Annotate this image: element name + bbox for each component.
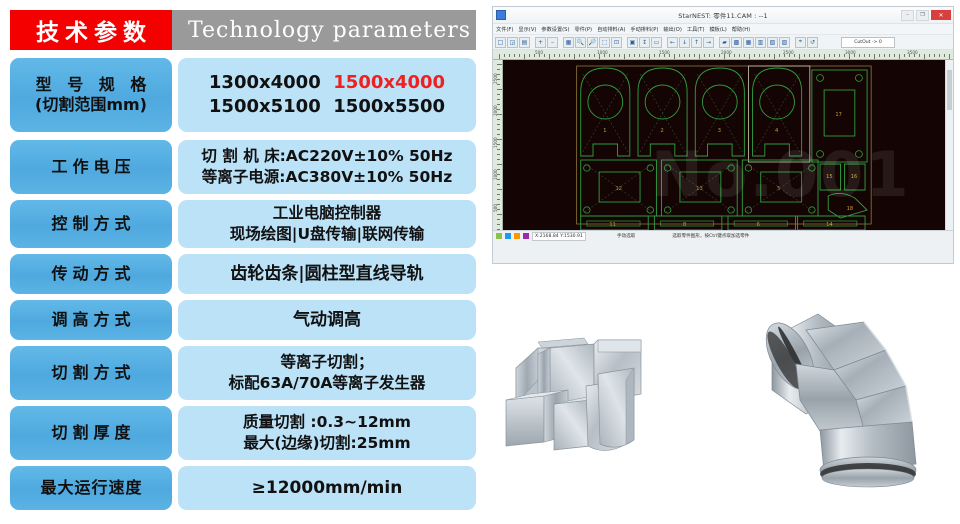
nested-part	[581, 68, 630, 156]
rectangular-duct-fittings-photo	[498, 318, 738, 498]
part-number-label: 14	[826, 222, 833, 228]
canvas-watermark: No.001	[651, 138, 910, 211]
arrow-up-icon[interactable]: ↑	[691, 37, 702, 48]
cad-menu-item-2[interactable]: 参数设置(S)	[541, 26, 569, 33]
status-icon-4	[523, 233, 529, 239]
cad-menu-item-0[interactable]: 文件(F)	[496, 26, 513, 33]
row-value: 1300x4000 1500x4000 1500x5100 1500x5500	[178, 58, 476, 132]
ruler-label: 3500	[907, 50, 918, 55]
part-detail	[661, 221, 714, 226]
ruler-label: 500	[493, 204, 498, 212]
ruler-label: 1500	[659, 50, 670, 55]
grid-icon[interactable]: ▦	[563, 37, 574, 48]
part-corner-hole	[584, 165, 591, 171]
part-hole	[702, 85, 737, 119]
row-label-line1: 切割厚度	[46, 423, 135, 443]
ruler-tick	[709, 54, 710, 57]
ruler-tick	[884, 54, 885, 57]
ruler-tick	[554, 54, 555, 57]
spec-table: 技术参数 Technology parameters 型 号 规 格 (切割范围…	[0, 0, 486, 524]
ruler-tick	[497, 99, 500, 100]
part-corner-hole	[817, 75, 824, 82]
ruler-tick	[614, 54, 615, 57]
cad-menu-item-1[interactable]: 显示(V)	[518, 26, 536, 33]
ruler-tick	[559, 54, 560, 57]
ruler-tick	[504, 54, 505, 57]
ruler-tick	[839, 54, 840, 57]
round-duct-elbow-photo	[760, 304, 950, 504]
ruler-tick	[744, 54, 745, 57]
row-value: ≥12000mm/min	[178, 466, 476, 510]
sort-icon[interactable]: ▧	[767, 37, 778, 48]
ruler-tick	[497, 194, 500, 195]
ruler-tick	[497, 199, 500, 200]
status-icon-2	[505, 233, 511, 239]
row-value-line1: 工业电脑控制器	[273, 203, 382, 224]
ruler-label: 2000	[721, 50, 732, 55]
ruler-tick	[859, 54, 860, 57]
ruler-tick	[879, 54, 880, 57]
zoom-all-icon[interactable]: ⊡	[611, 37, 622, 48]
ruler-tick	[939, 54, 940, 57]
table-row: 控制方式 工业电脑控制器 现场绘图|U盘传输|联网传输	[10, 200, 476, 248]
scrollbar-thumb[interactable]	[947, 70, 952, 110]
status-coordinates: X:2168.84 Y:1530.91	[535, 234, 583, 239]
part-hole	[645, 85, 680, 119]
cad-software-screenshot: StarNEST: 零件11.CAM : --1 – ❐ ✕ 文件(F)显示(V…	[492, 6, 954, 264]
model-1500x4000-highlight: 1500x4000	[333, 72, 445, 93]
save-icon[interactable]: ▤	[519, 37, 530, 48]
ruler-tick	[634, 54, 635, 57]
row-label-line1: 型 号 规 格	[31, 75, 152, 95]
row-value: 气动调高	[178, 300, 476, 340]
status-icon-1	[496, 233, 502, 239]
row-value: 质量切割 :0.3~12mm 最大(边缘)切割:25mm	[178, 406, 476, 460]
row-label: 型 号 规 格 (切割范围mm)	[10, 58, 172, 132]
ruler-tick	[619, 54, 620, 57]
row-label: 切割方式	[10, 346, 172, 400]
table-row: 最大运行速度 ≥12000mm/min	[10, 466, 476, 510]
row-label: 控制方式	[10, 200, 172, 248]
part-corner-hole	[584, 207, 591, 213]
ruler-tick	[519, 54, 520, 57]
ruler-tick	[809, 54, 810, 57]
ruler-tick	[497, 124, 500, 125]
row-value: 工业电脑控制器 现场绘图|U盘传输|联网传输	[178, 200, 476, 248]
ruler-tick	[769, 54, 770, 57]
zoom-window-icon[interactable]: ⬚	[599, 37, 610, 48]
ruler-tick	[694, 54, 695, 57]
page-title-en: Technology parameters	[172, 10, 476, 50]
ruler-tick	[759, 54, 760, 57]
array-icon[interactable]: ▦	[743, 37, 754, 48]
ruler-tick	[497, 184, 500, 185]
ruler-tick	[579, 54, 580, 57]
model-1500x5500: 1500x5500	[333, 96, 445, 117]
spec-table-header: 技术参数 Technology parameters	[10, 10, 476, 50]
ruler-tick	[929, 54, 930, 57]
ruler-tick	[714, 54, 715, 57]
ruler-tick	[564, 54, 565, 57]
ruler-tick	[497, 219, 500, 220]
part-number-label: 6	[757, 222, 760, 228]
cad-title-bar: StarNEST: 零件11.CAM : --1 – ❐ ✕	[493, 7, 953, 24]
model-1500x5100: 1500x5100	[209, 96, 321, 117]
ruler-tick	[497, 94, 500, 95]
row-label: 传动方式	[10, 254, 172, 294]
row-value-line2: 1500x5100 1500x5500	[209, 95, 445, 119]
ruler-tick	[497, 134, 500, 135]
ruler-tick	[889, 54, 890, 57]
arrow-down-icon[interactable]: ↓	[679, 37, 690, 48]
ruler-tick	[497, 159, 500, 160]
cad-canvas[interactable]: No.001 12341712135151618118614	[503, 60, 953, 230]
add-icon[interactable]: +	[535, 37, 546, 48]
ruler-tick	[739, 54, 740, 57]
align-icon[interactable]: ▰	[719, 37, 730, 48]
ruler-tick	[684, 54, 685, 57]
ruler-tick	[754, 54, 755, 57]
part-hole	[760, 85, 795, 119]
ruler-tick	[869, 54, 870, 57]
arrow-left-icon[interactable]: ←	[667, 37, 678, 48]
cad-menu-bar[interactable]: 文件(F)显示(V)参数设置(S)零件(P)自动排料(A)手动排料(P)输出(O…	[493, 24, 953, 35]
ruler-tick	[584, 54, 585, 57]
toolbar-cutout-field[interactable]: CutOut -> 0	[841, 37, 895, 48]
cad-menu-item-7[interactable]: 工具(T)	[687, 26, 705, 33]
row-label-line1: 调高方式	[46, 310, 135, 330]
row-label-line1: 切割方式	[46, 363, 135, 383]
ruler-label: 1500	[493, 137, 498, 148]
cad-menu-item-9[interactable]: 帮助(H)	[732, 26, 750, 33]
row-value-line1: 齿轮齿条|圆柱型直线导轨	[230, 263, 423, 286]
ruler-tick	[529, 54, 530, 57]
part-number-label: 3	[718, 128, 721, 134]
part-icon[interactable]: ▥	[755, 37, 766, 48]
ruler-label: 500	[535, 50, 543, 55]
table-row: 传动方式 齿轮齿条|圆柱型直线导轨	[10, 254, 476, 294]
cad-status-bar: X:2168.84 Y:1530.91 手动选取 选取零件图形，按Ctrl键点取…	[493, 230, 953, 241]
ruler-tick	[864, 54, 865, 57]
row-label-line1: 控制方式	[46, 214, 135, 234]
row-label-line1: 工作电压	[46, 157, 135, 177]
ruler-tick	[794, 54, 795, 57]
ruler-tick	[829, 54, 830, 57]
ruler-tick	[509, 54, 510, 57]
ruler-tick	[497, 69, 500, 70]
model-1300x4000: 1300x4000	[209, 72, 321, 93]
table-row: 切割厚度 质量切割 :0.3~12mm 最大(边缘)切割:25mm	[10, 406, 476, 460]
row-label: 调高方式	[10, 300, 172, 340]
ruler-tick	[589, 54, 590, 57]
table-row: 调高方式 气动调高	[10, 300, 476, 340]
nested-part	[728, 216, 796, 230]
zoom-in-icon[interactable]: 🔍	[575, 37, 586, 48]
nest-guide	[585, 164, 653, 212]
ruler-tick	[719, 54, 720, 57]
ruler-tick	[804, 54, 805, 57]
ruler-tick	[497, 224, 500, 225]
row-value: 齿轮齿条|圆柱型直线导轨	[178, 254, 476, 294]
measure-icon[interactable]: ↕	[639, 37, 650, 48]
row-value-line1: 等离子切割；	[280, 352, 373, 373]
open-icon[interactable]: ◲	[507, 37, 518, 48]
ruler-label: 2500	[783, 50, 794, 55]
ruler-tick	[629, 54, 630, 57]
ruler-tick	[689, 54, 690, 57]
part-hole	[588, 85, 623, 119]
ruler-tick	[834, 54, 835, 57]
ruler-tick	[514, 54, 515, 57]
row-value: 切 割 机 床:AC220V±10% 50Hz 等离子电源:AC380V±10%…	[178, 140, 476, 194]
table-row: 切割方式 等离子切割； 标配63A/70A等离子发生器	[10, 346, 476, 400]
part-number-label: 12	[616, 186, 623, 192]
ruler-tick	[654, 54, 655, 57]
ruler-label: 1000	[493, 169, 498, 180]
cad-menu-item-6[interactable]: 输出(O)	[663, 26, 682, 33]
row-label-line1: 最大运行速度	[39, 478, 142, 498]
row-value-line1: 质量切割 :0.3~12mm	[243, 412, 411, 433]
table-row: 型 号 规 格 (切割范围mm) 1300x4000 1500x4000 150…	[10, 58, 476, 132]
ruler-tick	[497, 119, 500, 120]
ruler-tick	[894, 54, 895, 57]
row-value-line2: 等离子电源:AC380V±10% 50Hz	[202, 167, 452, 188]
part-number-label: 4	[775, 128, 778, 134]
part-number-label: 8	[683, 222, 686, 228]
ruler-tick	[609, 54, 610, 57]
ruler-tick	[497, 154, 500, 155]
part-number-label: 1	[603, 128, 606, 134]
select-icon[interactable]: ▣	[627, 37, 638, 48]
zoom-out-icon[interactable]: 🔎	[587, 37, 598, 48]
ruler-tick	[734, 54, 735, 57]
ruler-tick	[594, 54, 595, 57]
ruler-tick	[919, 54, 920, 57]
row-value: 等离子切割； 标配63A/70A等离子发生器	[178, 346, 476, 400]
row-value-line1: 切 割 机 床:AC220V±10% 50Hz	[201, 146, 452, 167]
row-value-line1: 1300x4000 1500x4000	[209, 71, 445, 95]
part-corner-hole	[855, 75, 862, 82]
cad-workspace: 2500200015001000500 No.001 1234171213515…	[493, 60, 953, 230]
row-value-line2: 最大(边缘)切割:25mm	[243, 433, 410, 454]
row-value-line2: 现场绘图|U盘传输|联网传输	[230, 224, 424, 245]
status-hint: 选取零件图形，按Ctrl键点取加选零件	[672, 233, 749, 239]
horizontal-ruler: 500100015002000250030003500	[493, 50, 953, 60]
ruler-tick	[814, 54, 815, 57]
table-row: 工作电压 切 割 机 床:AC220V±10% 50Hz 等离子电源:AC380…	[10, 140, 476, 194]
cad-toolbar[interactable]: □◲▤+–▦🔍🔎⬚⊡▣↕▭←↓↑→▰▩▦▥▧▨⌖↺CutOut -> 0	[493, 35, 953, 50]
ruler-label: 3000	[845, 50, 856, 55]
ruler-tick	[679, 54, 680, 57]
ruler-tick	[569, 54, 570, 57]
ruler-tick	[639, 54, 640, 57]
ruler-tick	[779, 54, 780, 57]
ruler-tick	[944, 54, 945, 57]
row-value-line1: 气动调高	[293, 309, 361, 332]
product-photos	[492, 290, 954, 522]
part-number-label: 2	[661, 128, 664, 134]
ruler-tick	[644, 54, 645, 57]
new-icon[interactable]: □	[495, 37, 506, 48]
part-detail	[734, 221, 787, 226]
ruler-tick	[764, 54, 765, 57]
ruler-tick	[934, 54, 935, 57]
part-number-label: 17	[835, 112, 842, 118]
ruler-label: 2500	[493, 73, 498, 84]
canvas-scrollbar-vertical[interactable]	[945, 60, 953, 230]
row-label: 最大运行速度	[10, 466, 172, 510]
cad-window-title: StarNEST: 零件11.CAM : --1	[493, 10, 953, 20]
part-number-label: 11	[609, 222, 616, 228]
row-label: 工作电压	[10, 140, 172, 194]
row-label-line2: (切割范围mm)	[35, 95, 147, 115]
cad-menu-item-5[interactable]: 手动排料(P)	[630, 26, 658, 33]
ruler-tick	[704, 54, 705, 57]
ruler-tick	[497, 229, 500, 230]
ruler-tick	[819, 54, 820, 57]
pan-icon[interactable]: ⌖	[795, 37, 806, 48]
ruler-tick	[497, 129, 500, 130]
arrow-right-icon[interactable]: →	[703, 37, 714, 48]
ruler-label: 1000	[597, 50, 608, 55]
row-label: 切割厚度	[10, 406, 172, 460]
ruler-tick	[904, 54, 905, 57]
page-title-cn: 技术参数	[10, 10, 172, 50]
color-icon[interactable]: ▨	[779, 37, 790, 48]
minus-icon[interactable]: –	[547, 37, 558, 48]
status-icon-3	[514, 233, 520, 239]
cad-menu-item-8[interactable]: 模板(L)	[709, 26, 726, 33]
ruler-tick	[544, 54, 545, 57]
vertical-ruler: 2500200015001000500	[493, 60, 503, 230]
undo-icon[interactable]: ↺	[807, 37, 818, 48]
nest-icon[interactable]: ▩	[731, 37, 742, 48]
ruler-tick	[497, 84, 500, 85]
cad-menu-item-3[interactable]: 零件(P)	[575, 26, 593, 33]
status-mode: 手动选取	[617, 233, 635, 239]
rotate-icon[interactable]: ▭	[651, 37, 662, 48]
cad-menu-item-4[interactable]: 自动排料(A)	[597, 26, 625, 33]
nest-guide	[583, 74, 628, 152]
ruler-tick	[497, 149, 500, 150]
ruler-label: 2000	[493, 105, 498, 116]
row-value-line1: ≥12000mm/min	[252, 477, 403, 500]
row-value-line2: 标配63A/70A等离子发生器	[229, 373, 426, 394]
row-label-line1: 传动方式	[46, 264, 135, 284]
nested-part	[654, 216, 722, 230]
